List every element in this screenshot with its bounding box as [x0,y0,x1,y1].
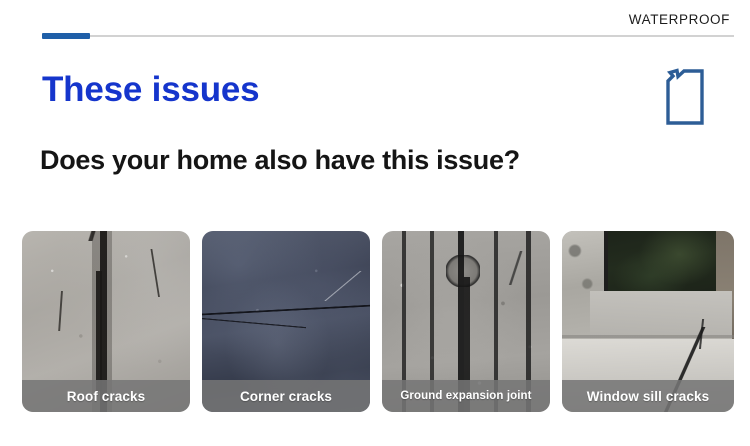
slide-header: WATERPROOF [0,0,750,46]
page-subtitle: Does your home also have this issue? [40,146,520,176]
issue-card-corner-cracks[interactable]: Corner cracks [202,231,370,412]
header-accent-bar [42,33,90,39]
issue-card-ground-expansion-joint[interactable]: Ground expansion joint [382,231,550,412]
cracked-panel-icon [664,68,708,126]
issue-card-roof-cracks[interactable]: Roof cracks [22,231,190,412]
header-divider-rule [42,35,734,37]
issue-card-window-sill-cracks[interactable]: Window sill cracks [562,231,734,412]
issue-card-caption: Ground expansion joint [382,380,550,412]
slide-root: WATERPROOF These issues Does your home a… [0,0,750,446]
issue-card-caption: Window sill cracks [562,380,734,412]
issue-card-row: Roof cracks Corner cracks Ground expansi… [22,231,730,412]
page-title: These issues [42,72,259,109]
issue-card-caption: Roof cracks [22,380,190,412]
header-category-label: WATERPROOF [629,12,730,27]
issue-card-caption: Corner cracks [202,380,370,412]
